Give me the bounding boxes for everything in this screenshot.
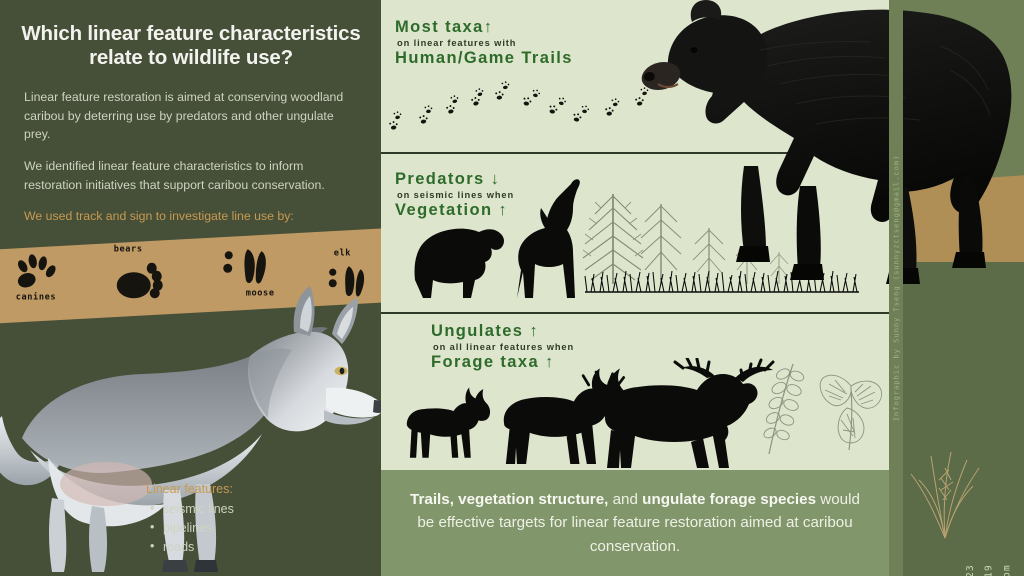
citation-block: Tattersall et al. 2023 DOI: 10.1002/2688…	[958, 0, 1020, 576]
wolf-silhouette	[517, 179, 580, 298]
linear-features-block: Linear features: seismic lines pipelines…	[146, 482, 346, 557]
finding-2-line1-text: Predators	[395, 170, 485, 188]
bear-silhouette	[415, 229, 504, 298]
finding-2-line2: on seismic lines when	[397, 190, 514, 200]
infographic-credit: Infographic by Sunny Tseng (sunnyzctseng…	[892, 155, 901, 422]
intro-paragraph-2: We identified linear feature characteris…	[24, 157, 360, 194]
up-arrow-icon-4: ↑	[545, 353, 555, 371]
up-arrow-icon-2: ↑	[498, 201, 508, 219]
linear-features-list: seismic lines pipelines roads	[146, 500, 346, 557]
conclusion-text: Trails, vegetation structure, and ungula…	[400, 488, 870, 557]
credit-strip: Infographic by Sunny Tseng (sunnyzctseng…	[889, 0, 903, 576]
list-item: roads	[146, 538, 346, 557]
list-item: seismic lines	[146, 500, 346, 519]
up-arrow-icon-3: ↑	[529, 322, 539, 340]
finding-2-line3-text: Vegetation	[395, 201, 492, 219]
finding-2-line1: Predators ↓	[395, 170, 514, 189]
birch-leaves-drawing	[820, 375, 881, 450]
willow-sprig-drawing	[762, 364, 805, 454]
citation-reference: Tattersall et al. 2023	[965, 564, 976, 576]
intro-paragraph-1: Linear feature restoration is aimed at c…	[24, 88, 360, 144]
finding-3-line1-text: Ungulates	[431, 322, 523, 340]
finding-3-heading: Ungulates ↑ on all linear features when …	[431, 322, 574, 372]
page-title: Which linear feature characteristics rel…	[16, 22, 366, 70]
finding-1-line3: Human/Game Trails	[395, 49, 573, 68]
left-body-text: Linear feature restoration is aimed at c…	[24, 88, 360, 239]
finding-2-heading: Predators ↓ on seismic lines when Vegeta…	[395, 170, 514, 220]
finding-1-line1: Most taxa↑	[395, 18, 573, 37]
section-divider-2	[381, 312, 889, 314]
citation-doi: DOI: 10.1002/2688-8319.12219	[983, 564, 994, 576]
finding-3-line1: Ungulates ↑	[431, 322, 574, 341]
citation-contact: Contact: ertattersall@gmail.com	[1001, 564, 1012, 576]
conclusion-bar: Trails, vegetation structure, and ungula…	[381, 470, 889, 576]
paw-print-trail	[387, 70, 657, 140]
conclusion-plain-1: and	[608, 491, 642, 508]
moose-silhouette	[605, 358, 773, 468]
list-item: pipelines	[146, 519, 346, 538]
methods-paragraph: We used track and sign to investigate li…	[24, 207, 360, 226]
finding-1-line1-text: Most taxa	[395, 18, 484, 36]
left-panel: Which linear feature characteristics rel…	[0, 0, 381, 576]
finding-1-line2: on linear features with	[397, 38, 573, 48]
finding-3-line3: Forage taxa ↑	[431, 353, 574, 372]
conclusion-bold-2: ungulate forage species	[642, 491, 816, 508]
finding-1-heading: Most taxa↑ on linear features with Human…	[395, 18, 573, 68]
linear-features-title: Linear features:	[146, 482, 346, 496]
conclusion-bold-1: Trails, vegetation structure,	[410, 491, 608, 508]
up-arrow-icon: ↑	[484, 18, 494, 36]
infographic-poster: Which linear feature characteristics rel…	[0, 0, 1024, 576]
down-arrow-icon: ↓	[491, 170, 501, 188]
finding-3-line3-text: Forage taxa	[431, 353, 539, 371]
finding-3-line2: on all linear features when	[433, 342, 574, 352]
ungulates-forage-graphic	[385, 358, 885, 470]
finding-2-line3: Vegetation ↑	[395, 201, 514, 220]
deer-silhouette	[407, 388, 490, 458]
